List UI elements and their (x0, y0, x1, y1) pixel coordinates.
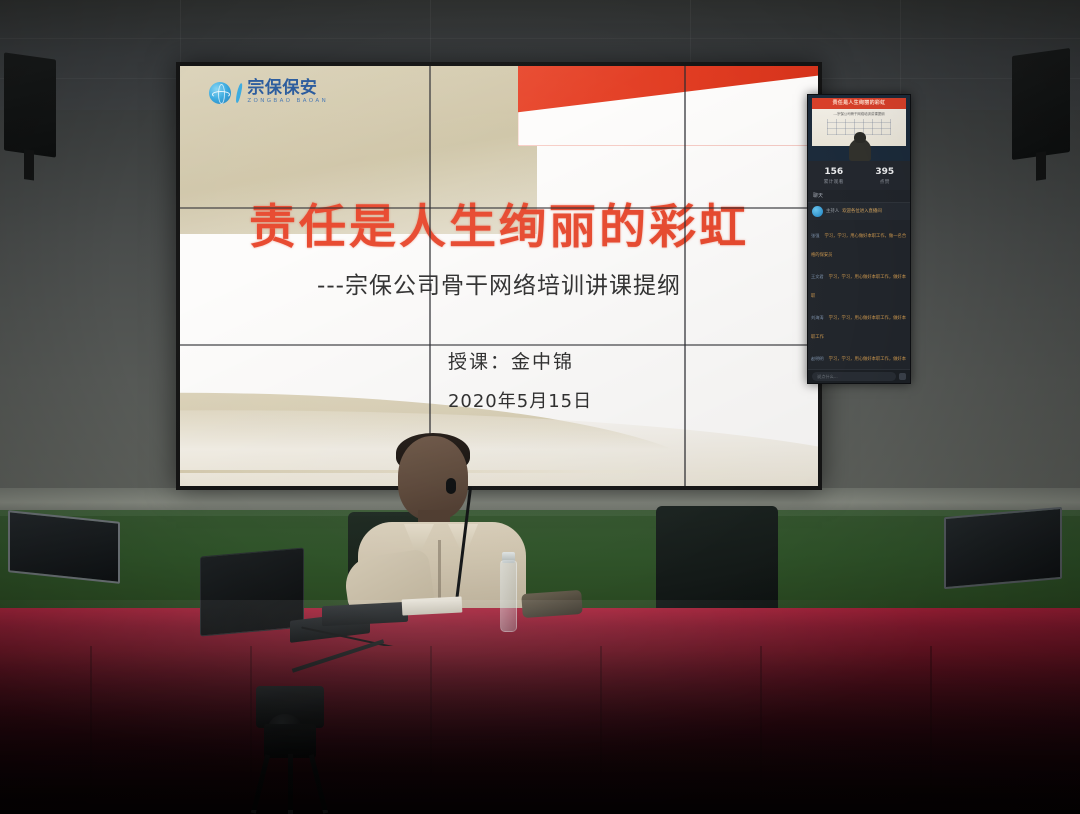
chat-name: 王文君 (811, 274, 824, 279)
tripod-leg (288, 754, 293, 814)
chat-name: 张强 (811, 233, 819, 238)
videowall-bezel-horizontal-2 (180, 344, 818, 346)
thumbnail-subtitle: ---宗保公司骨干网络培训讲课提纲 (812, 111, 906, 116)
tripod-head (264, 724, 316, 758)
send-icon[interactable] (899, 373, 906, 380)
conference-room-scene: 宗保保安 ZONGBAO BAOAN 责任是人生绚丽的彩虹 ---宗保公司骨干网… (0, 0, 1080, 810)
chair-center (656, 506, 778, 614)
video-wall-display[interactable]: 宗保保安 ZONGBAO BAOAN 责任是人生绚丽的彩虹 ---宗保公司骨干网… (176, 62, 822, 490)
slide-presenter: 授课：金中锦 (448, 347, 574, 374)
logo-name-cn: 宗保保安 (247, 80, 328, 97)
globe-icon (209, 82, 231, 104)
desk-monitor-right (944, 507, 1062, 589)
water-bottle (500, 560, 517, 632)
stat-views: 156 累计观看 (824, 168, 844, 185)
thumbnail-speaker-silhouette (849, 139, 871, 161)
wall-speaker-left (4, 52, 56, 157)
microphone-head (446, 478, 456, 494)
bag (521, 590, 583, 618)
presenter-head (398, 436, 468, 520)
livestream-panel[interactable]: 责任是人生绚丽的彩虹 ---宗保公司骨干网络培训讲课提纲 156 累计观看 39… (807, 94, 911, 384)
list-item: 张强 学习，学习，用心做好本职工作，做一名合格的保安员 (811, 222, 907, 260)
papers (402, 596, 463, 615)
chat-text: 学习，学习，用心做好本职工作，做一名合格的保安员 (811, 234, 906, 258)
wall-speaker-right (1012, 48, 1070, 160)
chat-text: 学习，学习，用心做好本职工作，做好本职工作 (811, 316, 906, 340)
desk-monitor-left (8, 510, 120, 584)
list-item: 王文君 学习，学习，用心做好本职工作，做好本职 (811, 263, 907, 301)
avatar (812, 206, 823, 217)
chat-text: 学习，学习，用心做好本职工作，做好本职 (811, 275, 906, 299)
camera-tripod (238, 668, 348, 810)
chat-host-row: 主持人 欢迎各位进入直播间 (808, 203, 910, 220)
chat-composer[interactable]: 说点什么... (808, 369, 910, 383)
chat-host-message: 欢迎各位进入直播间 (842, 208, 882, 214)
tripod-leg (251, 754, 270, 813)
videowall-bezel-vertical-2 (684, 66, 686, 486)
logo-swish-icon (236, 82, 242, 104)
stat-likes-value: 395 (875, 168, 894, 178)
videowall-bezel-vertical-1 (429, 66, 431, 486)
table-skirt (0, 646, 1080, 810)
chat-name: 刘海涛 (811, 315, 824, 320)
stat-views-label: 累计观看 (824, 179, 844, 185)
logo-name-en: ZONGBAO BAOAN (247, 99, 328, 105)
chat-message-list[interactable]: 张强 学习，学习，用心做好本职工作，做一名合格的保安员 王文君 学习，学习，用心… (808, 220, 910, 384)
company-logo: 宗保保安 ZONGBAO BAOAN (209, 80, 328, 105)
list-item: 刘海涛 学习，学习，用心做好本职工作，做好本职工作 (811, 304, 907, 342)
tripod-leg (309, 754, 328, 813)
videowall-bezel-horizontal-1 (180, 207, 818, 209)
stat-likes: 395 点赞 (875, 168, 894, 185)
chat-name: 赵明明 (811, 356, 824, 361)
slide-subtitle: ---宗保公司骨干网络培训讲课提纲 (180, 266, 818, 300)
presentation-slide: 宗保保安 ZONGBAO BAOAN 责任是人生绚丽的彩虹 ---宗保公司骨干网… (180, 66, 818, 486)
stream-video-thumbnail[interactable]: 责任是人生绚丽的彩虹 ---宗保公司骨干网络培训讲课提纲 (808, 95, 910, 161)
chat-host-name: 主持人 (826, 208, 839, 214)
stat-likes-label: 点赞 (875, 179, 894, 185)
stat-views-value: 156 (824, 168, 844, 178)
thumbnail-title: 责任是人生绚丽的彩虹 (812, 99, 906, 106)
slide-title: 责任是人生绚丽的彩虹 (180, 188, 818, 257)
slide-date: 2020年5月15日 (448, 387, 592, 413)
tab-chat[interactable]: 聊天 (808, 190, 910, 203)
stream-stats: 156 累计观看 395 点赞 (808, 161, 910, 190)
chat-input[interactable]: 说点什么... (812, 372, 896, 381)
laptop-screen[interactable] (200, 547, 304, 636)
